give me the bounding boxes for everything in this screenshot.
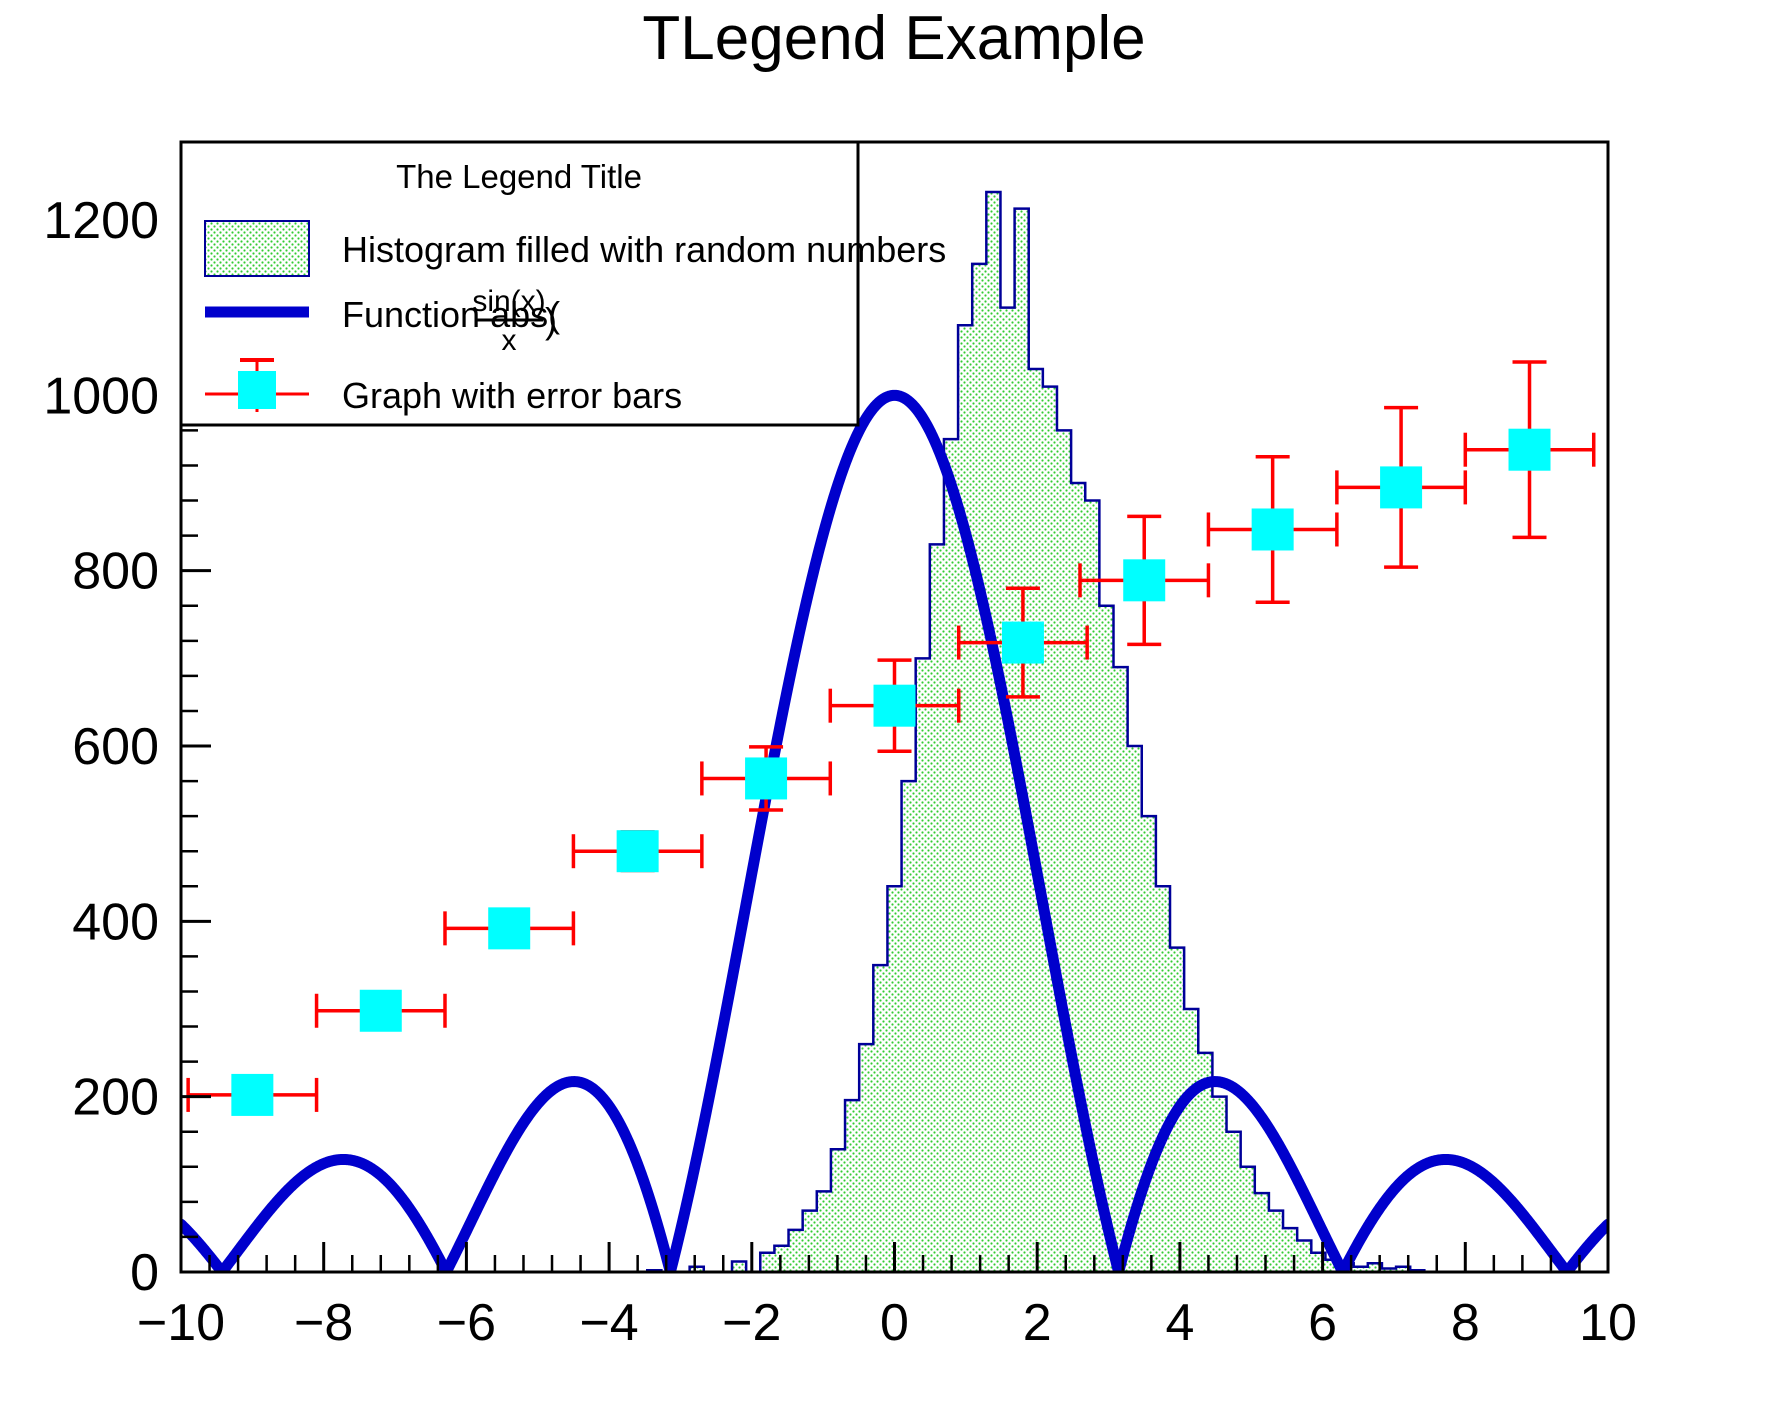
legend-label-graph: Graph with error bars bbox=[342, 375, 682, 416]
data-point bbox=[188, 1074, 316, 1116]
legend[interactable]: The Legend Title Histogram filled with r… bbox=[181, 142, 946, 425]
x-tick-label: 2 bbox=[1023, 1294, 1052, 1352]
data-point bbox=[573, 830, 701, 872]
legend-swatch-histogram bbox=[205, 221, 309, 276]
legend-title: The Legend Title bbox=[396, 158, 642, 195]
x-tick-label: 10 bbox=[1579, 1294, 1637, 1352]
legend-label-function-denominator: x bbox=[502, 324, 517, 357]
x-tick-label: 8 bbox=[1451, 1294, 1480, 1352]
data-point bbox=[1208, 457, 1336, 603]
y-tick-label: 200 bbox=[72, 1069, 159, 1127]
data-point bbox=[445, 907, 573, 949]
y-tick-label: 600 bbox=[72, 718, 159, 776]
x-tick-label: 6 bbox=[1308, 1294, 1337, 1352]
data-point bbox=[317, 990, 445, 1032]
x-tick-label: −2 bbox=[722, 1294, 781, 1352]
data-point bbox=[702, 747, 830, 810]
x-tick-label: −8 bbox=[294, 1294, 353, 1352]
root-canvas: TLegend Example −10−8−6−4−20246810 02004… bbox=[0, 0, 1788, 1416]
legend-label-function-numerator: sin(x) bbox=[472, 285, 545, 318]
legend-label-function-close: ) bbox=[545, 300, 557, 341]
data-point bbox=[1465, 362, 1593, 537]
y-tick-label: 1000 bbox=[43, 367, 159, 425]
legend-swatch-graph-marker bbox=[238, 371, 276, 409]
legend-label-histogram: Histogram filled with random numbers bbox=[342, 229, 946, 270]
x-tick-label: −6 bbox=[437, 1294, 496, 1352]
x-tick-label: 4 bbox=[1165, 1294, 1194, 1352]
y-tick-label: 400 bbox=[72, 893, 159, 951]
y-tick-label: 1200 bbox=[43, 192, 159, 250]
x-tick-label: 0 bbox=[880, 1294, 909, 1352]
chart-canvas: −10−8−6−4−20246810 020040060080010001200… bbox=[0, 0, 1788, 1416]
x-tick-label: −10 bbox=[137, 1294, 225, 1352]
y-tick-label: 800 bbox=[72, 543, 159, 601]
y-tick-label: 0 bbox=[130, 1244, 159, 1302]
data-point bbox=[1337, 408, 1465, 568]
x-tick-label: −4 bbox=[579, 1294, 638, 1352]
